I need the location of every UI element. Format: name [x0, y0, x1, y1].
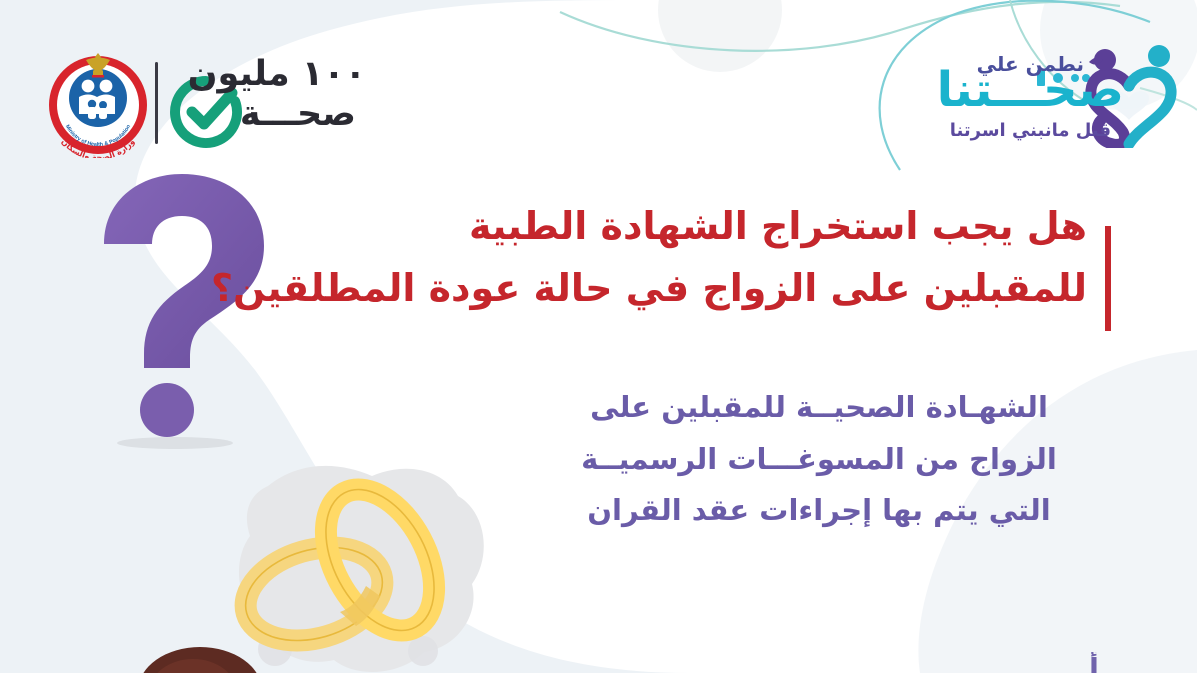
body-text: الشهـادة الصحيــة للمقبلين على الزواج من… [539, 382, 1099, 537]
initiative-logo-line3: قبل مانبني اسرتنا [950, 120, 1111, 141]
person-head-illustration [135, 645, 265, 673]
campaign-logo-100-million-health: ١٠٠ مليون صحـــة [168, 52, 368, 152]
campaign-logo-line2: صحـــة [240, 94, 356, 134]
logo-row: Ministry of Health & Population وزارة ال… [0, 0, 1197, 170]
headline-accent-bar [1105, 226, 1111, 331]
initiative-logo-line2: صحـــتنا [937, 66, 1124, 114]
campaign-logo-line1: ١٠٠ مليون [188, 54, 366, 94]
wedding-rings-icon [222, 462, 490, 673]
ministry-of-health-egypt-emblem: Ministry of Health & Population وزارة ال… [44, 48, 152, 158]
headline: هل يجب استخراج الشهادة الطبية للمقبلين ع… [357, 196, 1087, 319]
headline-line-1: هل يجب استخراج الشهادة الطبية [357, 196, 1087, 258]
logo-divider [155, 62, 158, 144]
body-text-line-2: الزواج من المسوغـــات الرسميــة [539, 434, 1099, 486]
body-text-line-3: التي يتم بها إجراءات عقد القران [539, 485, 1099, 537]
body-text-line-4-clipped: أ [539, 652, 1099, 673]
initiative-logo-our-health: نطمن علي صحـــتنا قبل مانبني اسرتنا [929, 22, 1179, 152]
poster-canvas: Ministry of Health & Population وزارة ال… [0, 0, 1197, 673]
headline-line-2: للمقبلين على الزواج في حالة عودة المطلقي… [357, 258, 1087, 320]
body-text-line-1: الشهـادة الصحيــة للمقبلين على [539, 382, 1099, 434]
